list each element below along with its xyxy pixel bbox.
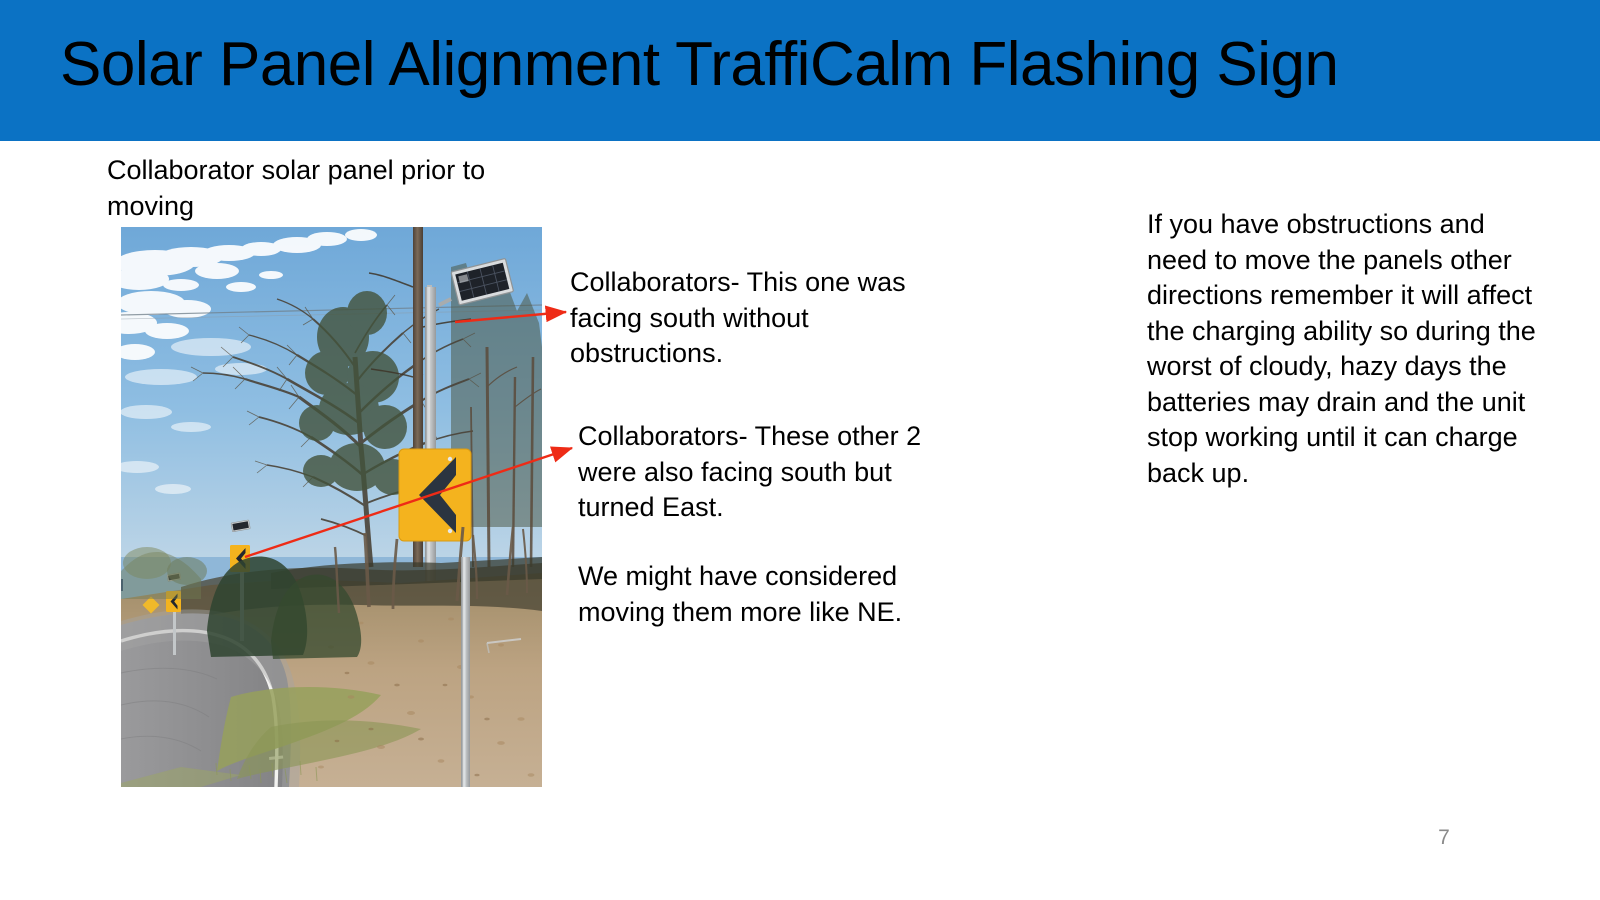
- annotation-text-recommendation: We might have considered moving them mor…: [578, 559, 938, 630]
- photo-caption-left: Collaborator solar panel prior to moving: [107, 152, 487, 224]
- annotation-text-other-panels: Collaborators- These other 2 were also f…: [578, 419, 938, 526]
- page-title: Solar Panel Alignment TraffiCalm Flashin…: [60, 26, 1540, 104]
- page-number: 7: [1424, 826, 1464, 850]
- guidance-text-right: If you have obstructions and need to mov…: [1147, 207, 1537, 491]
- annotation-text-top-panel: Collaborators- This one was facing south…: [570, 265, 930, 372]
- title-banner: Solar Panel Alignment TraffiCalm Flashin…: [0, 0, 1600, 141]
- roadside-solar-panel-photo: [121, 227, 542, 787]
